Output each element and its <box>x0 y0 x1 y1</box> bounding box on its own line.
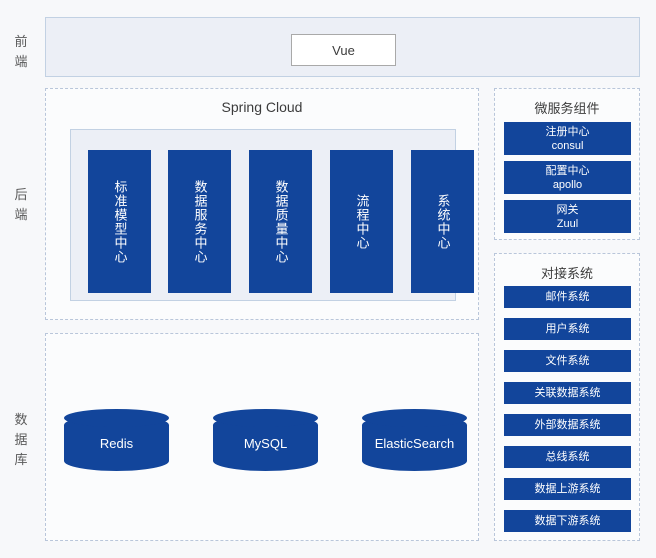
service-box-data-service-center-label: 数据服务中心 <box>190 180 210 264</box>
integration-item-email-system-label: 邮件系统 <box>546 290 590 304</box>
service-box-process-center[interactable]: 流程中心 <box>330 150 393 293</box>
tier-label-backend-char-1: 端 <box>8 205 34 225</box>
tier-label-frontend: 前 端 <box>8 32 34 72</box>
frontend-tier-panel: Vue <box>45 17 640 77</box>
microservice-item-registry-center-sub: consul <box>552 139 584 153</box>
microservice-components-title: 微服务组件 <box>495 98 639 117</box>
tier-label-frontend-char-1: 端 <box>8 52 34 72</box>
spring-cloud-service-group: 标准模型中心 数据服务中心 数据质量中心 流程中心 系统中心 <box>70 129 456 301</box>
service-box-standard-model-center[interactable]: 标准模型中心 <box>88 150 151 293</box>
integration-item-email-system[interactable]: 邮件系统 <box>504 286 631 308</box>
integration-item-external-data-system-label: 外部数据系统 <box>535 418 601 432</box>
database-cylinder-elasticsearch-label: ElasticSearch <box>362 409 467 477</box>
database-cylinder-redis[interactable]: Redis <box>64 409 169 477</box>
service-box-standard-model-center-label: 标准模型中心 <box>110 180 130 264</box>
integration-item-linked-data-system-label: 关联数据系统 <box>535 386 601 400</box>
tier-label-database: 数 据 库 <box>8 410 34 470</box>
integration-item-downstream-data-system[interactable]: 数据下游系统 <box>504 510 631 532</box>
service-box-data-quality-center[interactable]: 数据质量中心 <box>249 150 312 293</box>
integration-item-downstream-data-system-label: 数据下游系统 <box>535 514 601 528</box>
integration-item-file-system-label: 文件系统 <box>546 354 590 368</box>
frontend-component-vue-label: Vue <box>332 43 355 58</box>
backend-tier-panel: Spring Cloud 标准模型中心 数据服务中心 数据质量中心 流程中心 系… <box>45 88 479 320</box>
service-box-system-center[interactable]: 系统中心 <box>411 150 474 293</box>
service-box-process-center-label: 流程中心 <box>352 194 372 250</box>
integration-systems-panel: 对接系统 邮件系统 用户系统 文件系统 关联数据系统 外部数据系统 总线系统 数… <box>494 253 640 541</box>
tier-label-backend: 后 端 <box>8 185 34 225</box>
frontend-component-vue[interactable]: Vue <box>291 34 396 66</box>
integration-item-user-system-label: 用户系统 <box>546 322 590 336</box>
microservice-item-config-center-label: 配置中心 <box>546 164 590 178</box>
microservice-item-gateway[interactable]: 网关 Zuul <box>504 200 631 233</box>
integration-item-external-data-system[interactable]: 外部数据系统 <box>504 414 631 436</box>
microservice-item-gateway-label: 网关 <box>557 203 579 217</box>
integration-item-file-system[interactable]: 文件系统 <box>504 350 631 372</box>
tier-label-database-char-0: 数 <box>8 410 34 430</box>
microservice-item-gateway-sub: Zuul <box>557 217 578 231</box>
integration-item-bus-system[interactable]: 总线系统 <box>504 446 631 468</box>
integration-item-upstream-data-system-label: 数据上游系统 <box>535 482 601 496</box>
integration-item-upstream-data-system[interactable]: 数据上游系统 <box>504 478 631 500</box>
microservice-item-config-center-sub: apollo <box>553 178 582 192</box>
database-cylinder-mysql-label: MySQL <box>213 409 318 477</box>
database-cylinder-mysql[interactable]: MySQL <box>213 409 318 477</box>
tier-label-database-char-2: 库 <box>8 450 34 470</box>
tier-label-database-char-1: 据 <box>8 430 34 450</box>
microservice-components-panel: 微服务组件 注册中心 consul 配置中心 apollo 网关 Zuul <box>494 88 640 240</box>
database-cylinder-redis-label: Redis <box>64 409 169 477</box>
database-cylinder-elasticsearch[interactable]: ElasticSearch <box>362 409 467 477</box>
architecture-diagram: 前 端 后 端 数 据 库 Vue Spring Cloud 标准模型中心 数据… <box>0 0 656 558</box>
database-tier-panel: Redis MySQL ElasticSearch <box>45 333 479 541</box>
service-box-data-service-center[interactable]: 数据服务中心 <box>168 150 231 293</box>
integration-item-user-system[interactable]: 用户系统 <box>504 318 631 340</box>
microservice-item-config-center[interactable]: 配置中心 apollo <box>504 161 631 194</box>
service-box-data-quality-center-label: 数据质量中心 <box>271 180 291 264</box>
service-box-system-center-label: 系统中心 <box>433 194 453 250</box>
integration-item-bus-system-label: 总线系统 <box>546 450 590 464</box>
spring-cloud-title: Spring Cloud <box>46 99 478 115</box>
microservice-item-registry-center-label: 注册中心 <box>546 125 590 139</box>
tier-label-backend-char-0: 后 <box>8 185 34 205</box>
integration-systems-title: 对接系统 <box>495 263 639 282</box>
integration-item-linked-data-system[interactable]: 关联数据系统 <box>504 382 631 404</box>
microservice-item-registry-center[interactable]: 注册中心 consul <box>504 122 631 155</box>
tier-label-frontend-char-0: 前 <box>8 32 34 52</box>
